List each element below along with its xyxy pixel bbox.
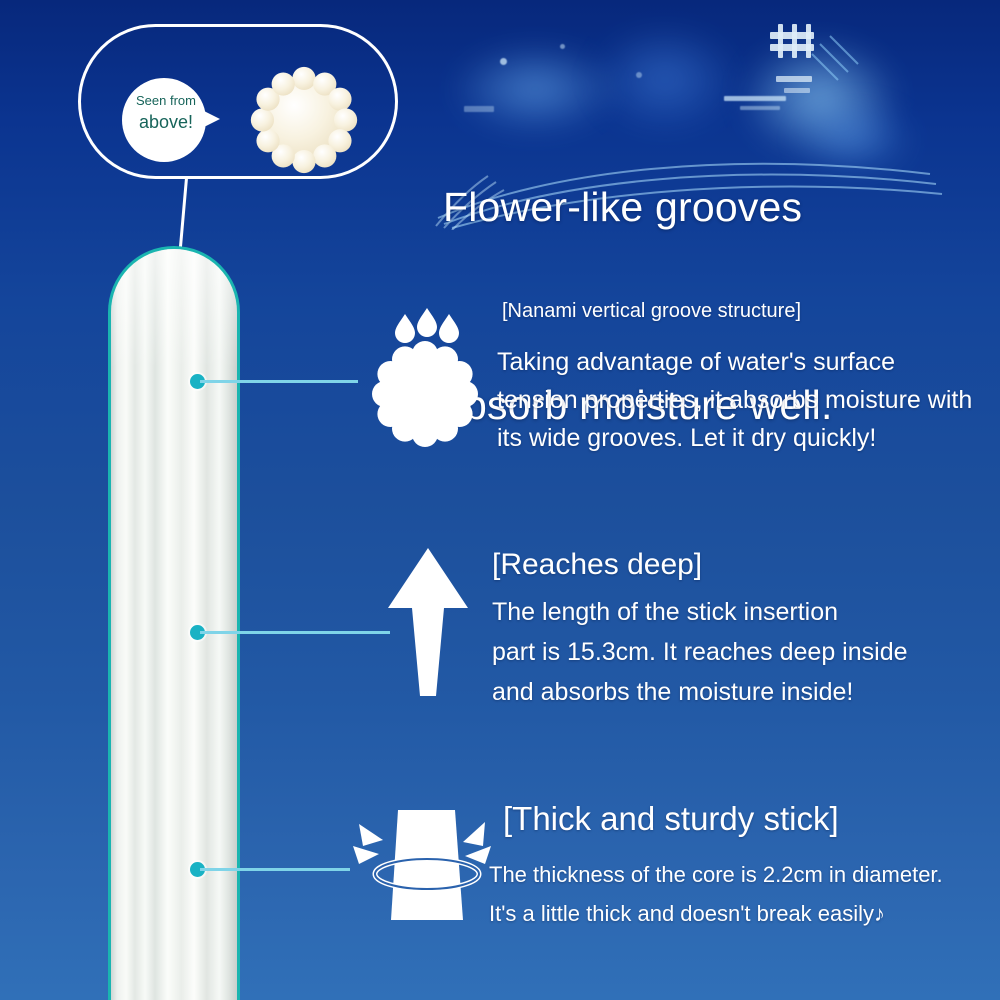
up-arrow-icon: [378, 544, 478, 704]
feature-3-body: The thickness of the core is 2.2cm in di…: [489, 855, 943, 933]
speech-bubble-text: Seen from above!: [126, 92, 206, 134]
feature-1-body: Taking advantage of water's surfacetensi…: [497, 343, 972, 457]
callout-stem-line: [179, 178, 188, 248]
feature-3-title: [Thick and sturdy stick]: [503, 800, 839, 838]
connector-line-2: [200, 631, 390, 634]
thick-stick-icon: [345, 802, 495, 927]
feature-2-body-line: The length of the stick insertion: [492, 592, 908, 632]
feature-1-body-line: its wide grooves. Let it dry quickly!: [497, 419, 972, 457]
feature-1-body-line: Taking advantage of water's surface: [497, 343, 972, 381]
feature-2-body-line: and absorbs the moisture inside!: [492, 672, 908, 712]
product-stick-illustration: [108, 246, 240, 1000]
feature-3-body-line: It's a little thick and doesn't break ea…: [489, 894, 943, 933]
product-infographic: Flower-like grooves absorb moisture well…: [0, 0, 1000, 1000]
feature-2-body-line: part is 15.3cm. It reaches deep inside: [492, 632, 908, 672]
feature-2-body: The length of the stick insertionpart is…: [492, 592, 908, 712]
flower-with-droplets-icon: [360, 302, 490, 447]
feature-2-title: [Reaches deep]: [492, 548, 702, 582]
connector-line-1: [200, 380, 358, 383]
bubble-line-1: Seen from: [126, 92, 206, 110]
headline-line-1: Flower-like grooves: [443, 174, 983, 240]
feature-3-body-line: The thickness of the core is 2.2cm in di…: [489, 855, 943, 894]
connector-line-3: [200, 868, 350, 871]
bubble-line-2: above!: [126, 110, 206, 134]
feature-1-body-line: tension properties, it absorbs moisture …: [497, 381, 972, 419]
flower-cross-section-icon: [246, 62, 362, 178]
feature-1-title: [Nanami vertical groove structure]: [502, 300, 801, 323]
